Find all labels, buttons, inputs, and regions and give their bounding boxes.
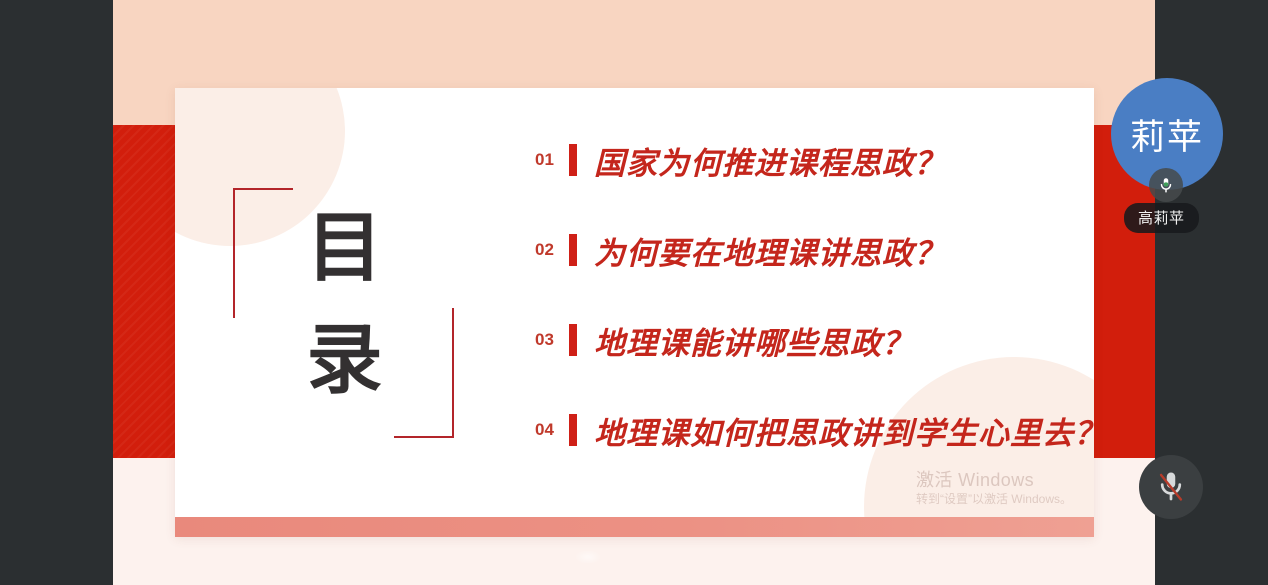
agenda-item-text: 国家为何推进课程思政？ (594, 138, 946, 183)
watermark-subtitle: 转到“设置”以激活 Windows。 (916, 491, 1072, 507)
mute-toggle-button[interactable] (1139, 455, 1203, 519)
agenda-item-text: 为何要在地理课讲思政？ (594, 228, 946, 273)
participant-tile[interactable]: 莉苹 高莉苹 (1111, 78, 1227, 228)
agenda-item-03: 03 地理课能讲哪些思政？ (535, 316, 1075, 364)
agenda-item-04: 04 地理课如何把思政讲到学生心里去？ (535, 406, 1075, 454)
agenda-item-marker (569, 414, 577, 446)
agenda-item-text: 地理课能讲哪些思政？ (594, 318, 914, 363)
table-of-contents-title-block: 目 录 (233, 188, 458, 438)
agenda-item-number: 01 (535, 150, 569, 170)
participant-name-label: 高莉苹 (1124, 203, 1199, 233)
agenda-item-text: 地理课如何把思政讲到学生心里去？ (594, 408, 1094, 453)
windows-activation-watermark: 激活 Windows 转到“设置”以激活 Windows。 (916, 469, 1072, 507)
left-rail (0, 0, 113, 585)
agenda-item-marker (569, 234, 577, 266)
microphone-icon (1149, 168, 1183, 202)
agenda-item-marker (569, 144, 577, 176)
page-title: 目 录 (233, 192, 458, 416)
agenda-item-01: 01 国家为何推进课程思政？ (535, 136, 1075, 184)
page-title-char-2: 录 (233, 304, 458, 416)
slide-card: 目 录 01 国家为何推进课程思政？ 02 为何要在地理课讲思政？ 03 (175, 88, 1094, 537)
agenda-item-number: 04 (535, 420, 569, 440)
agenda-item-number: 03 (535, 330, 569, 350)
watermark-title: 激活 Windows (916, 469, 1072, 491)
agenda-item-number: 02 (535, 240, 569, 260)
microphone-muted-icon (1154, 469, 1188, 506)
screen-share-window: 目 录 01 国家为何推进课程思政？ 02 为何要在地理课讲思政？ 03 (0, 0, 1268, 585)
agenda-list: 01 国家为何推进课程思政？ 02 为何要在地理课讲思政？ 03 地理课能讲哪些… (535, 136, 1075, 454)
page-title-char-1: 目 (233, 192, 458, 304)
agenda-item-02: 02 为何要在地理课讲思政？ (535, 226, 1075, 274)
shared-screen-stage[interactable]: 目 录 01 国家为何推进课程思政？ 02 为何要在地理课讲思政？ 03 (113, 0, 1155, 585)
slide-bottom-accent-bar (175, 517, 1094, 537)
agenda-item-marker (569, 324, 577, 356)
